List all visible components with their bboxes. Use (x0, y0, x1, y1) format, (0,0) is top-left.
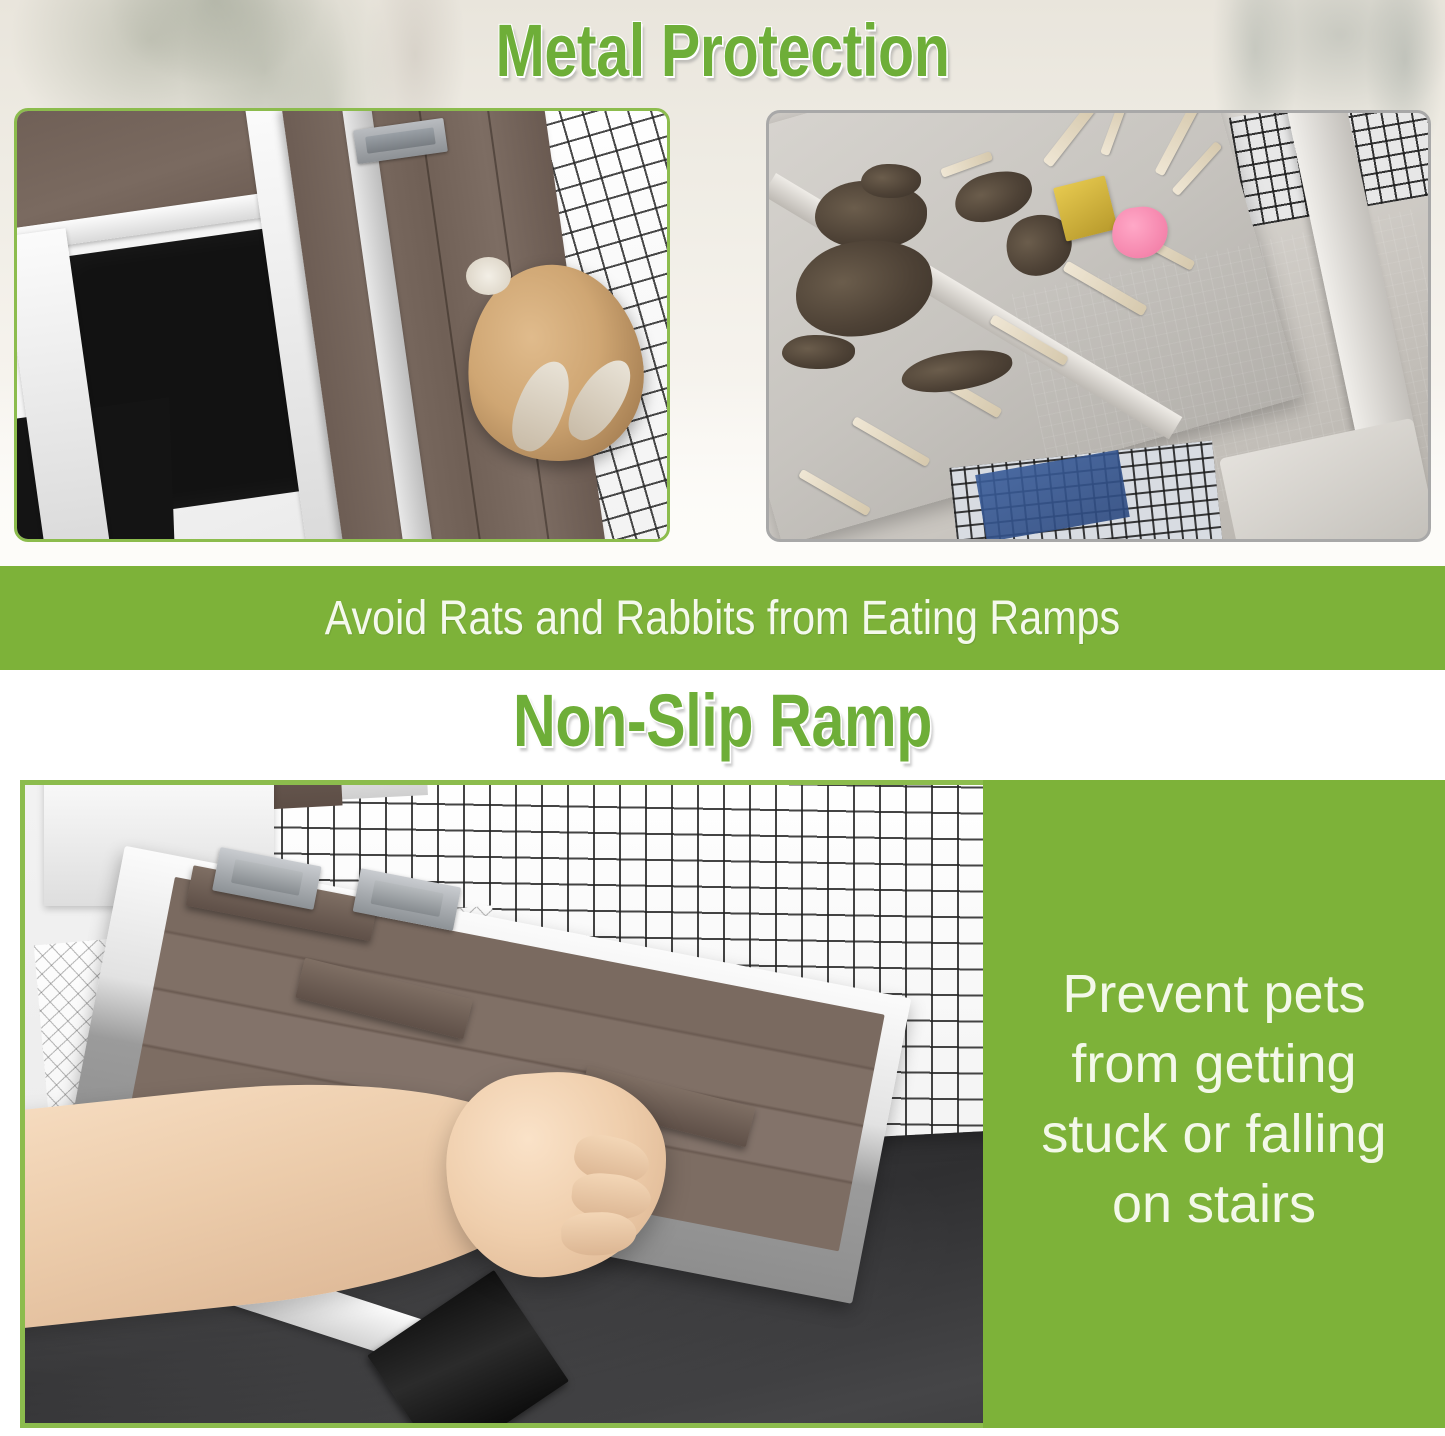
non-slip-ramp-panel: Prevent pets from getting stuck or falli… (20, 780, 1445, 1428)
rabbit-tail (466, 257, 512, 296)
prevent-pets-callout: Prevent pets from getting stuck or falli… (983, 780, 1445, 1428)
infographic-page: Metal Protection (0, 0, 1445, 1436)
rabbit-photo-scene (17, 111, 667, 539)
non-slip-ramp-title: Non-Slip Ramp (145, 678, 1301, 763)
callout-line-1: Prevent pets (1041, 959, 1386, 1029)
rabbit-on-ramp-photo (14, 108, 670, 542)
damage-photo-scene (769, 113, 1428, 539)
banner-text: Avoid Rats and Rabbits from Eating Ramps (325, 591, 1120, 646)
avoid-eating-ramps-banner: Avoid Rats and Rabbits from Eating Ramps (0, 566, 1445, 670)
callout-line-4: on stairs (1041, 1169, 1386, 1239)
callout-line-2: from getting (1041, 1029, 1386, 1099)
hand-holding-ramp-photo (20, 780, 983, 1428)
callout-lines: Prevent pets from getting stuck or falli… (1041, 959, 1386, 1250)
ramp-photo-scene (25, 785, 983, 1423)
callout-line-3: stuck or falling (1041, 1099, 1386, 1169)
metal-protection-title: Metal Protection (145, 8, 1301, 93)
chewed-ramp-damage-photo (766, 110, 1431, 542)
